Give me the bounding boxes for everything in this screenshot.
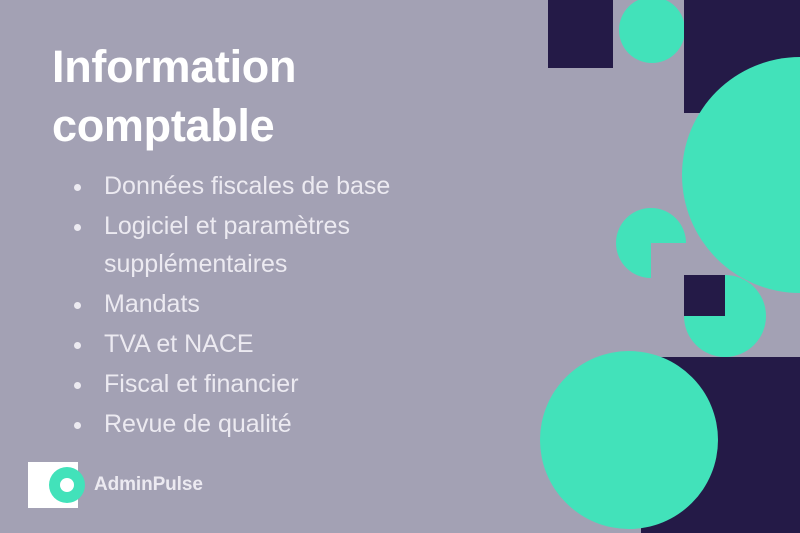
teal-large-circle-upper — [682, 57, 800, 293]
list-item: Fiscal et financier — [56, 365, 506, 403]
teal-circle-mid-right — [684, 275, 766, 357]
navy-square-top-left — [548, 0, 613, 68]
navy-block-top-right — [684, 0, 800, 113]
list-item: Mandats — [56, 285, 506, 323]
bullet-dot-icon — [74, 302, 81, 309]
list-item: Logiciel et paramètres supplémentaires — [56, 207, 506, 283]
list-item: Revue de qualité — [56, 405, 506, 443]
list-item-label: Fiscal et financier — [104, 370, 299, 398]
teal-pacman-shape — [616, 208, 687, 279]
list-item: Données fiscales de base — [56, 167, 506, 205]
bullet-dot-icon — [74, 382, 81, 389]
teal-big-circle-bottom — [540, 351, 718, 529]
list-item-label: Revue de qualité — [104, 410, 292, 438]
teal-circle-top — [619, 0, 685, 63]
bullet-dot-icon — [74, 422, 81, 429]
feature-list: Données fiscales de base Logiciel et par… — [56, 167, 506, 445]
list-item: TVA et NACE — [56, 325, 506, 363]
page-title: Information comptable — [52, 38, 482, 155]
adminpulse-ring-logo-icon — [28, 462, 86, 508]
bullet-dot-icon — [74, 224, 81, 231]
brand-name: AdminPulse — [94, 474, 203, 496]
teal-pacman-circle — [616, 208, 686, 278]
slide-canvas: Information comptable Données fiscales d… — [0, 0, 800, 533]
bullet-dot-icon — [74, 342, 81, 349]
list-item-label: Logiciel et paramètres supplémentaires — [104, 212, 350, 278]
list-item-label: TVA et NACE — [104, 330, 254, 358]
logo-ring-hole — [60, 478, 74, 492]
navy-square-overlay — [684, 275, 725, 316]
navy-block-bottom-right — [641, 357, 800, 533]
content-column: Information comptable Données fiscales d… — [0, 0, 530, 533]
pacman-notch — [651, 243, 687, 279]
brand-logo: AdminPulse — [28, 462, 203, 508]
bullet-dot-icon — [74, 184, 81, 191]
list-item-label: Mandats — [104, 290, 200, 318]
list-item-label: Données fiscales de base — [104, 172, 390, 200]
